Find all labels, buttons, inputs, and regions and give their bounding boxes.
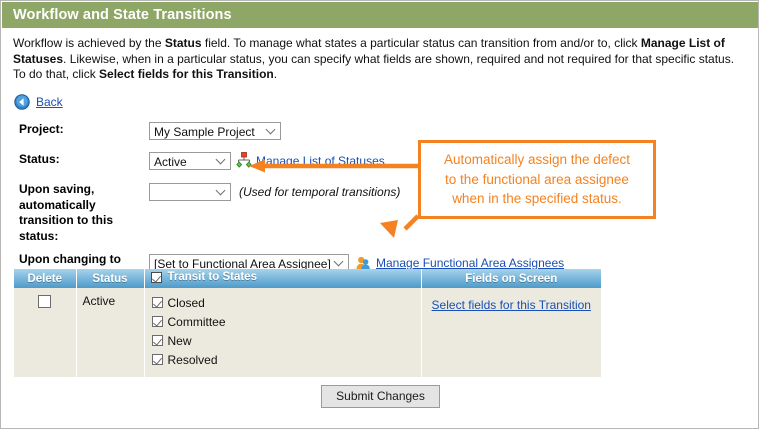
intro-seg-2: field. To manage what states a particula… <box>202 36 641 50</box>
row-delete-checkbox[interactable] <box>38 295 51 308</box>
state-checkbox-committee[interactable] <box>152 316 163 327</box>
annotation-callout: Automatically assign the defect to the f… <box>418 140 656 219</box>
chevron-down-icon <box>267 126 275 134</box>
intro-bold-select-fields: Select fields for this Transition <box>99 67 274 81</box>
project-select[interactable]: My Sample Project <box>149 122 281 140</box>
status-select[interactable]: Active <box>149 152 231 170</box>
temporal-select[interactable] <box>149 183 231 201</box>
page-title: Workflow and State Transitions <box>2 7 232 23</box>
list-item[interactable]: Committee <box>152 312 415 331</box>
intro-paragraph: Workflow is achieved by the Status field… <box>13 36 749 83</box>
cell-status: Active <box>76 288 144 377</box>
page-root: Workflow and State Transitions Workflow … <box>0 0 759 429</box>
back-link[interactable]: Back <box>36 95 63 109</box>
chevron-down-icon <box>217 156 225 164</box>
state-checkbox-closed[interactable] <box>152 297 163 308</box>
column-header-transit-label: Transit to States <box>168 271 257 283</box>
cell-transit-states: Closed Committee New <box>144 288 421 377</box>
chevron-down-icon <box>335 258 343 266</box>
temporal-control: (Used for temporal transitions) <box>149 182 400 201</box>
row-status-value: Active <box>83 294 116 308</box>
status-control: Active Manage List of Statuses <box>149 152 385 170</box>
chevron-down-icon <box>217 187 225 195</box>
back-link-row[interactable]: Back <box>14 92 63 112</box>
table-header-row: Delete Status Transit to States Fields o… <box>14 269 601 288</box>
annotation-line-3: when in the specified status. <box>444 189 630 209</box>
annotation-line-1: Automatically assign the defect <box>444 150 630 170</box>
state-label-closed: Closed <box>168 296 205 310</box>
temporal-label: Upon saving, automatically transition to… <box>1 182 149 244</box>
column-header-status: Status <box>76 269 144 288</box>
intro-seg-4: . <box>274 67 277 81</box>
status-label: Status: <box>1 152 149 168</box>
transit-states-list: Closed Committee New <box>152 293 415 369</box>
workflow-diagram-icon <box>236 152 252 170</box>
state-label-committee: Committee <box>168 315 226 329</box>
state-label-new: New <box>168 334 192 348</box>
user-icon <box>355 256 371 270</box>
cell-delete <box>14 288 76 377</box>
annotation-text: Automatically assign the defect to the f… <box>438 150 636 209</box>
intro-bold-status: Status <box>165 36 202 50</box>
project-select-value: My Sample Project <box>154 125 255 139</box>
table-row: Active Closed <box>14 288 601 377</box>
list-item[interactable]: New <box>152 331 415 350</box>
transitions-table: Delete Status Transit to States Fields o… <box>14 269 601 377</box>
column-header-fields-on-screen: Fields on Screen <box>421 269 601 288</box>
submit-changes-button[interactable]: Submit Changes <box>321 385 440 408</box>
transit-header-checkbox[interactable] <box>151 272 162 283</box>
status-select-value: Active <box>154 155 187 169</box>
select-fields-for-this-transition-link[interactable]: Select fields for this Transition <box>432 298 591 312</box>
column-header-delete: Delete <box>14 269 76 288</box>
state-checkbox-new[interactable] <box>152 335 163 346</box>
column-header-transit-to-states: Transit to States <box>144 269 421 288</box>
annotation-line-2: to the functional area assignee <box>444 170 630 190</box>
project-control: My Sample Project <box>149 122 281 140</box>
manage-functional-area-assignees-link[interactable]: Manage Functional Area Assignees <box>376 256 564 270</box>
manage-list-of-statuses-link[interactable]: Manage List of Statuses <box>256 154 385 168</box>
temporal-hint: (Used for temporal transitions) <box>239 183 400 199</box>
transitions-table-wrapper: Delete Status Transit to States Fields o… <box>14 269 601 377</box>
project-label: Project: <box>1 122 149 138</box>
list-item[interactable]: Closed <box>152 293 415 312</box>
list-item[interactable]: Resolved <box>152 350 415 369</box>
intro-seg-1: Workflow is achieved by the <box>13 36 165 50</box>
state-checkbox-resolved[interactable] <box>152 354 163 365</box>
page-title-bar: Workflow and State Transitions <box>2 2 759 28</box>
submit-area: Submit Changes <box>1 385 759 408</box>
cell-fields-on-screen: Select fields for this Transition <box>421 288 601 377</box>
state-label-resolved: Resolved <box>168 353 218 367</box>
back-arrow-icon <box>14 94 30 110</box>
